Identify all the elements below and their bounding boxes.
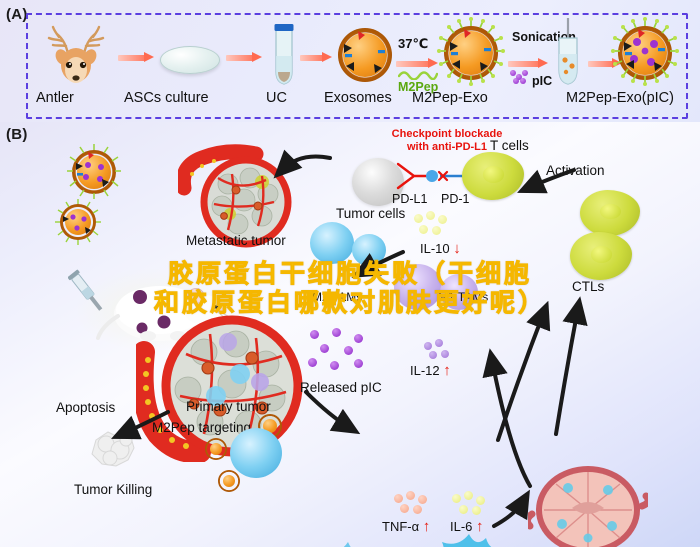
step-label-m2pep-exo: M2Pep-Exo xyxy=(412,90,488,106)
panel-b-tag: (B) xyxy=(6,126,28,143)
scientific-figure: (A) Antler xyxy=(0,0,700,547)
panel-a: (A) Antler xyxy=(0,0,700,122)
targeted-macrophage-icon xyxy=(230,428,282,478)
cytokine-il-12: IL-12 ↑ xyxy=(410,362,451,379)
ctl-cell-icon xyxy=(580,190,640,236)
panel-a-tag: (A) xyxy=(6,6,28,23)
m1-tam-icon xyxy=(310,222,354,264)
lymph-node-icon xyxy=(528,462,648,547)
cytokine-tnf-alpha: TNF-α ↑ xyxy=(382,518,430,535)
step-label-uc: UC xyxy=(266,90,287,106)
label-pd-l1: PD-L1 xyxy=(392,192,427,206)
label-metastatic-tumor: Metastatic tumor xyxy=(186,233,286,248)
cytokine-il-10-name: IL-10 xyxy=(420,241,450,256)
arrow-dc-to-lymphnode xyxy=(494,500,524,526)
label-tumor-killing: Tumor Killing xyxy=(74,482,152,497)
sonicator-icon xyxy=(554,18,582,88)
label-activation: Activation xyxy=(546,163,605,178)
t-cell-icon xyxy=(462,152,524,200)
released-pic-dots-icon xyxy=(306,328,372,380)
primary-tumor-icon xyxy=(136,312,316,462)
apoptotic-cell-icon xyxy=(82,422,144,478)
deer-icon xyxy=(40,24,112,86)
panel-b: (B) xyxy=(0,122,700,547)
exosome-pic-icon xyxy=(618,26,672,80)
process-arrow-3 xyxy=(300,52,332,63)
cytokine-tnf-alpha-name: TNF-α xyxy=(382,519,419,534)
label-ctls: CTLs xyxy=(572,279,604,294)
ctl-cell-icon xyxy=(570,232,632,280)
immature-dc-icon xyxy=(310,532,386,547)
step-label-asc-culture: ASCs culture xyxy=(124,90,209,106)
exosome-icon xyxy=(338,28,392,82)
exosome-particle-icon xyxy=(205,438,227,460)
step-label-antler: Antler xyxy=(36,90,74,106)
m1-tam-icon xyxy=(352,234,386,266)
label-pd-1: PD-1 xyxy=(441,192,469,206)
exosome-particle-icon xyxy=(60,204,96,240)
label-released-pic: Released pIC xyxy=(300,380,382,395)
process-arrow-2 xyxy=(226,52,262,63)
exosome-peptide-icon xyxy=(444,26,498,80)
centrifuge-tube-icon xyxy=(272,22,296,86)
temperature-condition: 37℃ xyxy=(398,36,428,52)
checkpoint-line-2: with anti-PD-L1 xyxy=(407,141,487,153)
label-m2-tams: M2 TAMs xyxy=(312,290,362,304)
petri-dish-icon xyxy=(160,46,220,74)
mature-dc-icon xyxy=(428,528,510,547)
label-apoptosis: Apoptosis xyxy=(56,400,115,415)
step-label-exosomes: Exosomes xyxy=(324,90,392,106)
label-m2pep-targeting: M2Pep targeting xyxy=(152,420,251,435)
label-primary-tumor: Primary tumor xyxy=(186,399,271,414)
cytokine-il-12-name: IL-12 xyxy=(410,363,440,378)
arrow-lymphnode-to-il12 xyxy=(492,360,530,486)
process-arrow-5 xyxy=(508,58,548,69)
exosome-particle-icon xyxy=(218,470,240,492)
peptide-squiggle-icon xyxy=(398,68,438,80)
m2-tam-icon xyxy=(394,264,442,310)
process-arrow-1 xyxy=(118,52,154,63)
cytokine-il-10-trend: ↓ xyxy=(453,240,461,257)
label-tumor-cells: Tumor cells xyxy=(336,206,405,221)
checkpoint-line-1: Checkpoint blockade xyxy=(392,128,503,140)
label-t-cells: T cells xyxy=(490,138,529,153)
pic-label: pIC xyxy=(532,74,552,88)
cytokine-il-10: IL-10 ↓ xyxy=(420,240,461,257)
exosome-particle-icon xyxy=(72,150,116,194)
label-m1-tams: M1 TAMs xyxy=(438,290,488,304)
arrow-lymphnode-to-ctls xyxy=(556,308,578,434)
arrow-ctl-recruit xyxy=(498,312,544,440)
cytokine-il-12-trend: ↑ xyxy=(443,362,451,379)
step-label-m2pep-exo-pic: M2Pep-Exo(pIC) xyxy=(566,90,674,106)
